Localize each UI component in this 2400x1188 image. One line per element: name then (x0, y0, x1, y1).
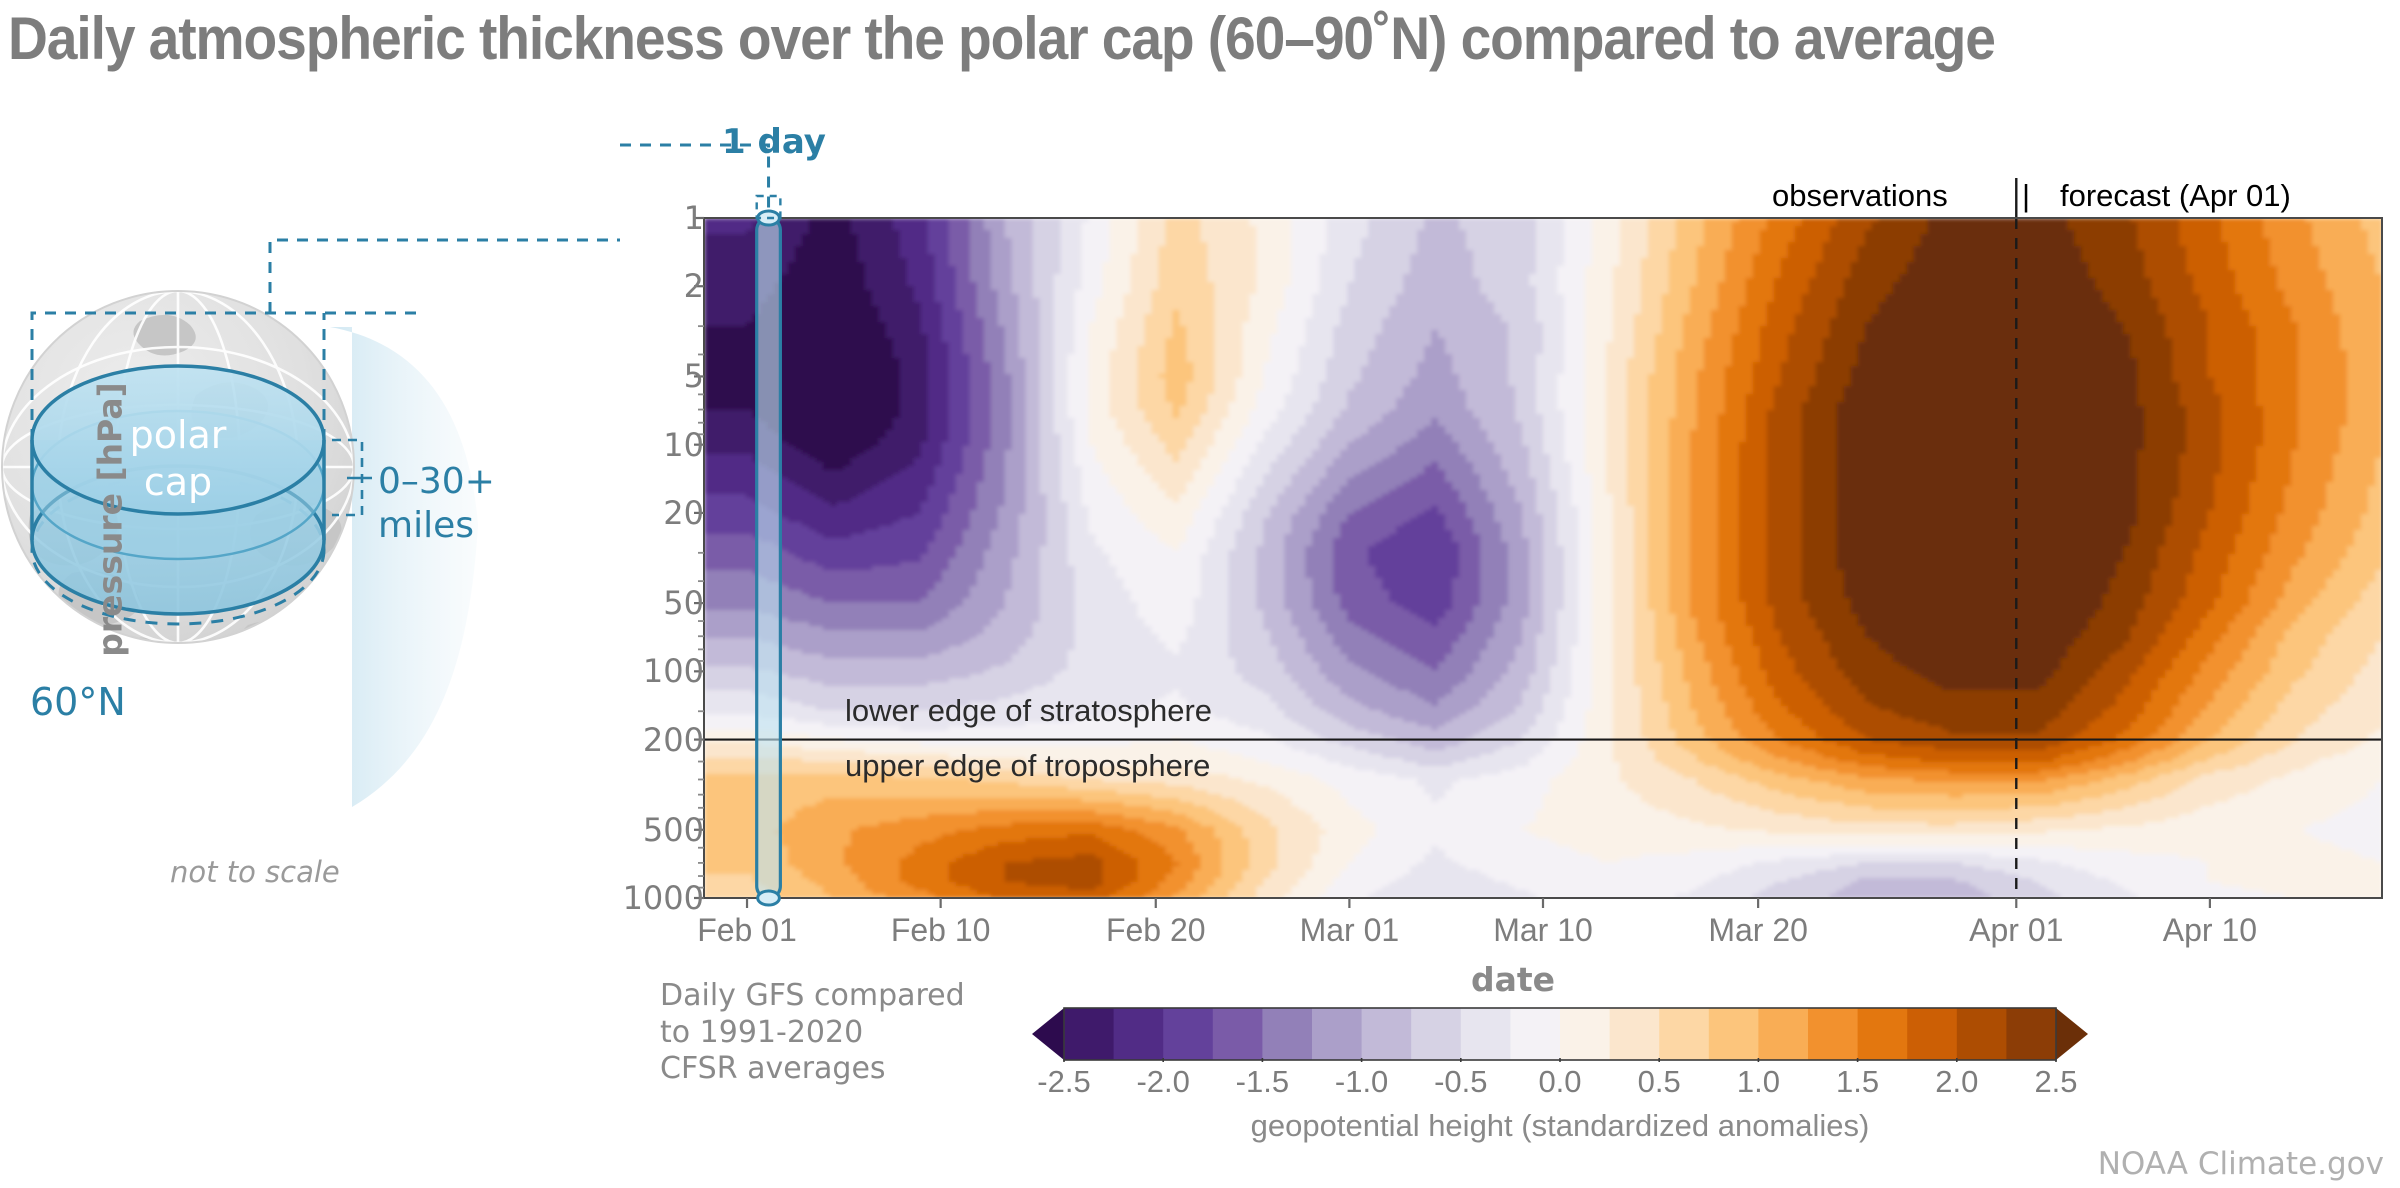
colorbar-band (1907, 1008, 1957, 1060)
y-tick-label: 50 (663, 584, 704, 622)
x-tick-label: Mar 10 (1493, 912, 1593, 949)
y-tick-label: 500 (643, 811, 704, 849)
troposphere-annotation: upper edge of troposphere (845, 748, 1210, 784)
colorbar-tick-label: 0.5 (1638, 1064, 1681, 1100)
colorbar-band (2006, 1008, 2056, 1060)
x-tick-label: Mar 20 (1708, 912, 1808, 949)
colorbar-band (1510, 1008, 1560, 1060)
y-tick-label: 5 (684, 357, 704, 395)
x-tick-label: Feb 10 (891, 912, 991, 949)
colorbar-band (1560, 1008, 1610, 1060)
y-tick-label: 100 (643, 652, 704, 690)
colorbar-tick-label: 2.5 (2034, 1064, 2077, 1100)
y-axis-label: pressure [hPa] (91, 350, 130, 690)
source-note: Daily GFS comparedto 1991-2020CFSR avera… (660, 978, 965, 1088)
colorbar-tick-label: -2.5 (1037, 1064, 1090, 1100)
colorbar-tick-label: -2.0 (1136, 1064, 1189, 1100)
y-tick-label: 1 (684, 199, 704, 237)
y-tick-label: 1000 (623, 879, 704, 917)
stratosphere-annotation: lower edge of stratosphere (845, 693, 1212, 729)
source-note-line: Daily GFS compared (660, 978, 965, 1015)
colorbar-band (1709, 1008, 1759, 1060)
forecast-label: forecast (Apr 01) (2060, 178, 2291, 214)
colorbar-extend-high (2056, 1008, 2088, 1060)
x-axis-label: date (1471, 960, 1555, 999)
colorbar-tick-label: 2.0 (1935, 1064, 1978, 1100)
colorbar-band (1461, 1008, 1511, 1060)
colorbar (1030, 1006, 2090, 1062)
source-note-line: CFSR averages (660, 1051, 965, 1088)
colorbar-band (1858, 1008, 1908, 1060)
colorbar-band (1114, 1008, 1164, 1060)
y-tick-label: 2 (684, 267, 704, 305)
colorbar-band (1957, 1008, 2007, 1060)
colorbar-band (1610, 1008, 1660, 1060)
colorbar-band (1411, 1008, 1461, 1060)
colorbar-tick-label: 1.5 (1836, 1064, 1879, 1100)
colorbar-band (1808, 1008, 1858, 1060)
y-tick-label: 200 (643, 721, 704, 759)
observations-forecast-separator: | (2022, 178, 2030, 214)
colorbar-tick-label: -1.5 (1236, 1064, 1289, 1100)
noaa-credit: NOAA Climate.gov (2098, 1146, 2384, 1182)
colorbar-tick-label: 0.0 (1538, 1064, 1581, 1100)
x-tick-label: Apr 10 (2163, 912, 2257, 949)
colorbar-band (1659, 1008, 1709, 1060)
one-day-highlight-column (757, 211, 781, 905)
y-tick-label: 20 (663, 494, 704, 532)
observations-label: observations (1772, 178, 1948, 214)
colorbar-tick-label: -1.0 (1335, 1064, 1388, 1100)
colorbar-extend-low (1032, 1008, 1064, 1060)
colorbar-band (1362, 1008, 1412, 1060)
x-tick-label: Apr 01 (1969, 912, 2063, 949)
colorbar-band (1312, 1008, 1362, 1060)
x-tick-label: Feb 01 (697, 912, 797, 949)
colorbar-tick-label: -0.5 (1434, 1064, 1487, 1100)
colorbar-band (1163, 1008, 1213, 1060)
colorbar-band (1262, 1008, 1312, 1060)
x-tick-label: Feb 20 (1106, 912, 1206, 949)
x-tick-label: Mar 01 (1300, 912, 1400, 949)
source-note-line: to 1991-2020 (660, 1015, 965, 1052)
y-tick-label: 10 (663, 426, 704, 464)
anomaly-field (704, 218, 2383, 899)
colorbar-band (1064, 1008, 1114, 1060)
colorbar-band (1213, 1008, 1263, 1060)
colorbar-tick-label: 1.0 (1737, 1064, 1780, 1100)
colorbar-band (1758, 1008, 1808, 1060)
colorbar-label: geopotential height (standardized anomal… (1251, 1108, 1870, 1144)
